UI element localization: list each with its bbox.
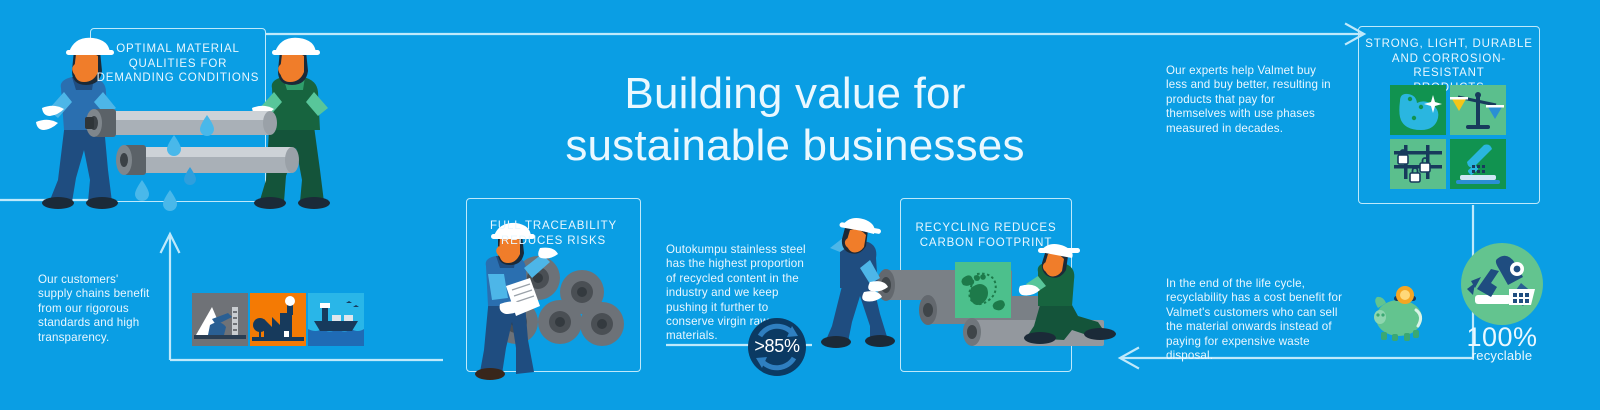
title-line-2: AND CORROSION-RESISTANT xyxy=(1358,52,1540,81)
padlocks-icon xyxy=(1390,139,1446,189)
card-strong-light-durable-title: STRONG, LIGHT, DURABLE AND CORROSION-RES… xyxy=(1358,37,1540,95)
title-line-2: CARBON FOOTPRINT xyxy=(900,236,1072,251)
carbon-footprint-icon xyxy=(955,262,1011,318)
title-line-3: DEMANDING CONDITIONS xyxy=(90,71,266,86)
card-optimal-material-title: OPTIMAL MATERIAL QUALITIES FOR DEMANDING… xyxy=(90,42,266,86)
steel-rolls-illustration xyxy=(82,95,302,210)
card-recycling-carbon-title: RECYCLING REDUCES CARBON FOOTPRINT xyxy=(900,221,1072,250)
recycling-loop-icon xyxy=(1461,243,1543,325)
flexed-arm-icon xyxy=(1390,85,1446,135)
title-line-1: OPTIMAL MATERIAL xyxy=(90,42,266,57)
recycled-percent-label: >85% xyxy=(748,336,806,357)
title-line-3: PRODUCTS xyxy=(1358,81,1540,96)
title-line-1: RECYCLING REDUCES xyxy=(900,221,1072,236)
card-full-traceability-title: FULL TRACEABILITY REDUCES RISKS xyxy=(466,219,641,248)
worker-blue-bending-illustration xyxy=(818,222,904,348)
recyclable-label: recyclable xyxy=(1442,349,1562,363)
title-line-1: FULL TRACEABILITY xyxy=(466,219,641,234)
mining-excavator-icon xyxy=(192,293,248,346)
paragraph-life-cycle: In the end of the life cycle, recyclabil… xyxy=(1166,277,1344,363)
headline-line-2: sustainable businesses xyxy=(485,120,1105,172)
infographic-canvas: OPTIMAL MATERIAL QUALITIES FOR DEMANDING… xyxy=(0,0,1600,410)
title-line-2: QUALITIES FOR xyxy=(90,57,266,72)
recyclable-number: 100% xyxy=(1442,323,1562,351)
traceability-illustration xyxy=(478,230,628,378)
cargo-ship-icon xyxy=(308,293,364,346)
title-line-1: STRONG, LIGHT, DURABLE xyxy=(1358,37,1540,52)
title-line-2: REDUCES RISKS xyxy=(466,234,641,249)
microscope-icon xyxy=(1450,139,1506,189)
piggy-bank-icon xyxy=(1372,288,1428,342)
paragraph-experts: Our experts help Valmet buy less and buy… xyxy=(1166,64,1332,136)
balance-scale-icon xyxy=(1450,85,1506,135)
page-title: Building value for sustainable businesse… xyxy=(485,68,1105,172)
factory-icon xyxy=(250,293,306,346)
worker-green-kneeling-illustration xyxy=(1020,250,1120,346)
paragraph-supply-chain: Our customers' supply chains benefit fro… xyxy=(38,273,156,345)
headline-line-1: Building value for xyxy=(485,68,1105,120)
